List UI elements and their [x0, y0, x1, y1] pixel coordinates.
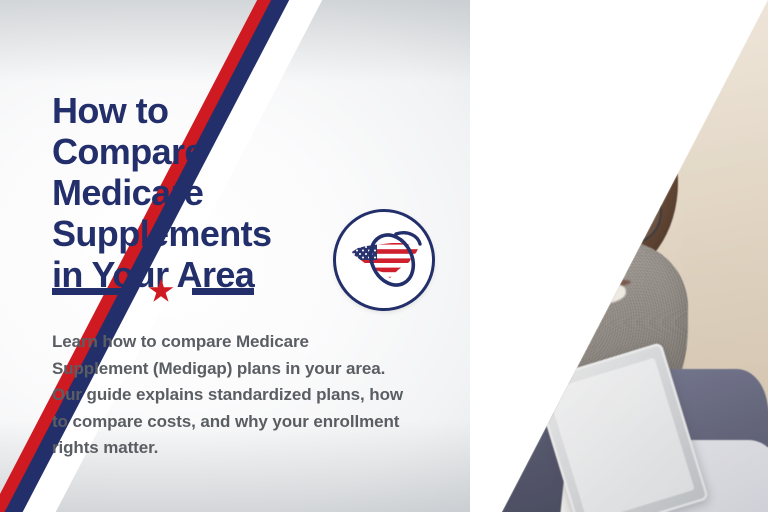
man-head-highlight [559, 82, 629, 154]
man-ear [517, 169, 544, 220]
page-title: How to Compare Medicare Supplements in Y… [52, 90, 352, 295]
eyeglasses-temple-arm [518, 186, 544, 196]
wall-highlight [449, 0, 678, 276]
subcopy-text: Learn how to compare Medicare Supplement… [52, 329, 404, 462]
headline-line-1: How to [52, 90, 168, 131]
headline-line-4: Supplements [52, 213, 271, 254]
divider-rule-left [52, 288, 130, 295]
man-eyebrow-left [543, 169, 584, 185]
usa-map-orbit-logo [336, 212, 432, 308]
divider-rule-right [192, 288, 254, 295]
star-divider [52, 279, 267, 303]
star-icon [148, 279, 174, 304]
man-nose [579, 225, 614, 271]
headline-line-3: Medicare [52, 172, 203, 213]
medicare-supplement-hero-banner: How to Compare Medicare Supplements in Y… [0, 0, 768, 512]
man-eyebrow-right [603, 165, 646, 179]
eyeglasses-bridge [593, 196, 605, 205]
man-eye-right [616, 203, 639, 213]
man-eye-left [554, 207, 577, 217]
eyeglasses-lens-left [536, 182, 603, 253]
headline-line-2: Compare [52, 131, 204, 172]
